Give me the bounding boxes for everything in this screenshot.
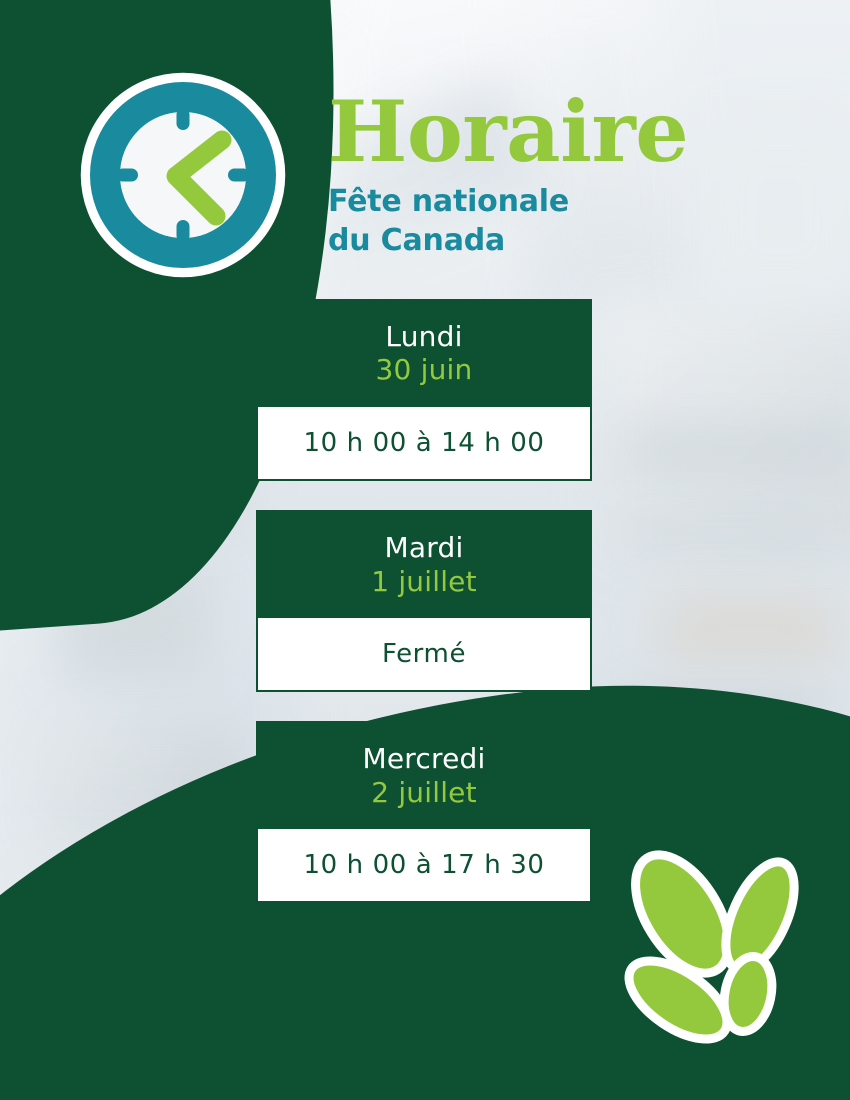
schedule-day-name: Mercredi	[266, 743, 582, 775]
page-title: Horaire	[328, 92, 748, 172]
page-subtitle: Fête nationale du Canada	[328, 182, 748, 261]
schedule-card-body: 10 h 00 à 14 h 00	[256, 407, 592, 481]
schedule-hours: 10 h 00 à 17 h 30	[303, 850, 544, 880]
schedule-card-header: Lundi 30 juin	[256, 299, 592, 407]
schedule-day-name: Lundi	[266, 321, 582, 353]
schedule-poster: Horaire Fête nationale du Canada Lundi 3…	[0, 0, 850, 1100]
butterfly-logo-icon	[612, 848, 836, 1064]
clock-icon	[76, 68, 290, 282]
title-block: Horaire Fête nationale du Canada	[328, 92, 748, 261]
schedule-hours: Fermé	[382, 639, 466, 669]
subtitle-line-1: Fête nationale	[328, 182, 748, 222]
photo-blur-shape	[620, 520, 820, 548]
schedule-hours: 10 h 00 à 14 h 00	[303, 428, 544, 458]
schedule-day-date: 2 juillet	[266, 776, 582, 810]
schedule-card: Lundi 30 juin 10 h 00 à 14 h 00	[256, 299, 592, 481]
schedule-card-header: Mardi 1 juillet	[256, 510, 592, 618]
schedule-card-body: 10 h 00 à 17 h 30	[256, 829, 592, 903]
schedule-day-date: 1 juillet	[266, 565, 582, 599]
schedule-card-body: Fermé	[256, 618, 592, 692]
photo-blur-shape	[660, 600, 840, 660]
schedule-card-header: Mercredi 2 juillet	[256, 721, 592, 829]
subtitle-line-2: du Canada	[328, 221, 748, 261]
schedule-day-name: Mardi	[266, 532, 582, 564]
schedule-day-date: 30 juin	[266, 353, 582, 387]
schedule-card: Mardi 1 juillet Fermé	[256, 510, 592, 692]
schedule-card-list: Lundi 30 juin 10 h 00 à 14 h 00 Mardi 1 …	[256, 299, 592, 903]
photo-blur-shape	[620, 430, 850, 470]
schedule-card: Mercredi 2 juillet 10 h 00 à 17 h 30	[256, 721, 592, 903]
